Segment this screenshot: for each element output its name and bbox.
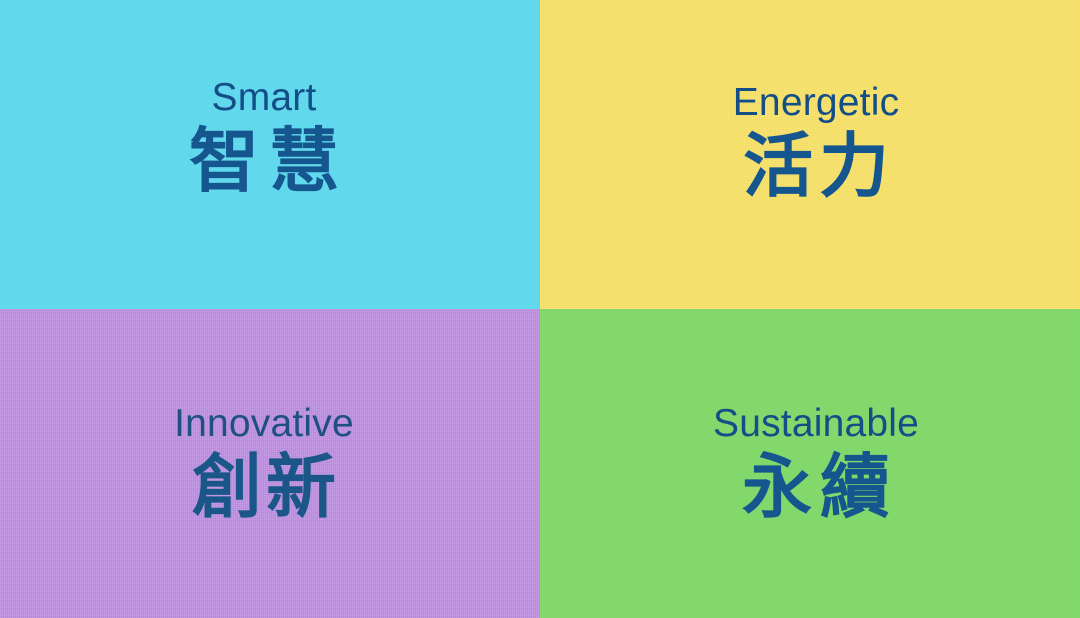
quadrant-sustainable[interactable]: Sustainable 永續 <box>540 309 1080 618</box>
label-en-sustainable: Sustainable <box>713 403 919 444</box>
label-en-energetic: Energetic <box>733 82 900 123</box>
label-stack-energetic: Energetic 活力 <box>733 82 900 204</box>
label-en-smart: Smart <box>211 77 316 118</box>
quadrant-innovative[interactable]: Innovative 創新 <box>0 309 540 618</box>
label-stack-innovative: Innovative 創新 <box>174 403 354 525</box>
label-cjk-energetic: 活力 <box>737 128 895 205</box>
quadrant-grid: Smart 智慧 Energetic 活力 Innovative 創新 Sust… <box>0 0 1080 618</box>
label-stack-smart: Smart 智慧 <box>179 77 349 199</box>
label-cjk-sustainable: 永續 <box>734 449 898 526</box>
label-en-innovative: Innovative <box>174 403 354 444</box>
label-cjk-innovative: 創新 <box>188 449 340 526</box>
quadrant-energetic[interactable]: Energetic 活力 <box>540 0 1080 309</box>
brand-values-canvas: Smart 智慧 Energetic 活力 Innovative 創新 Sust… <box>0 0 1080 618</box>
label-cjk-smart: 智慧 <box>179 123 349 200</box>
label-stack-sustainable: Sustainable 永續 <box>713 403 919 525</box>
quadrant-smart[interactable]: Smart 智慧 <box>0 0 540 309</box>
